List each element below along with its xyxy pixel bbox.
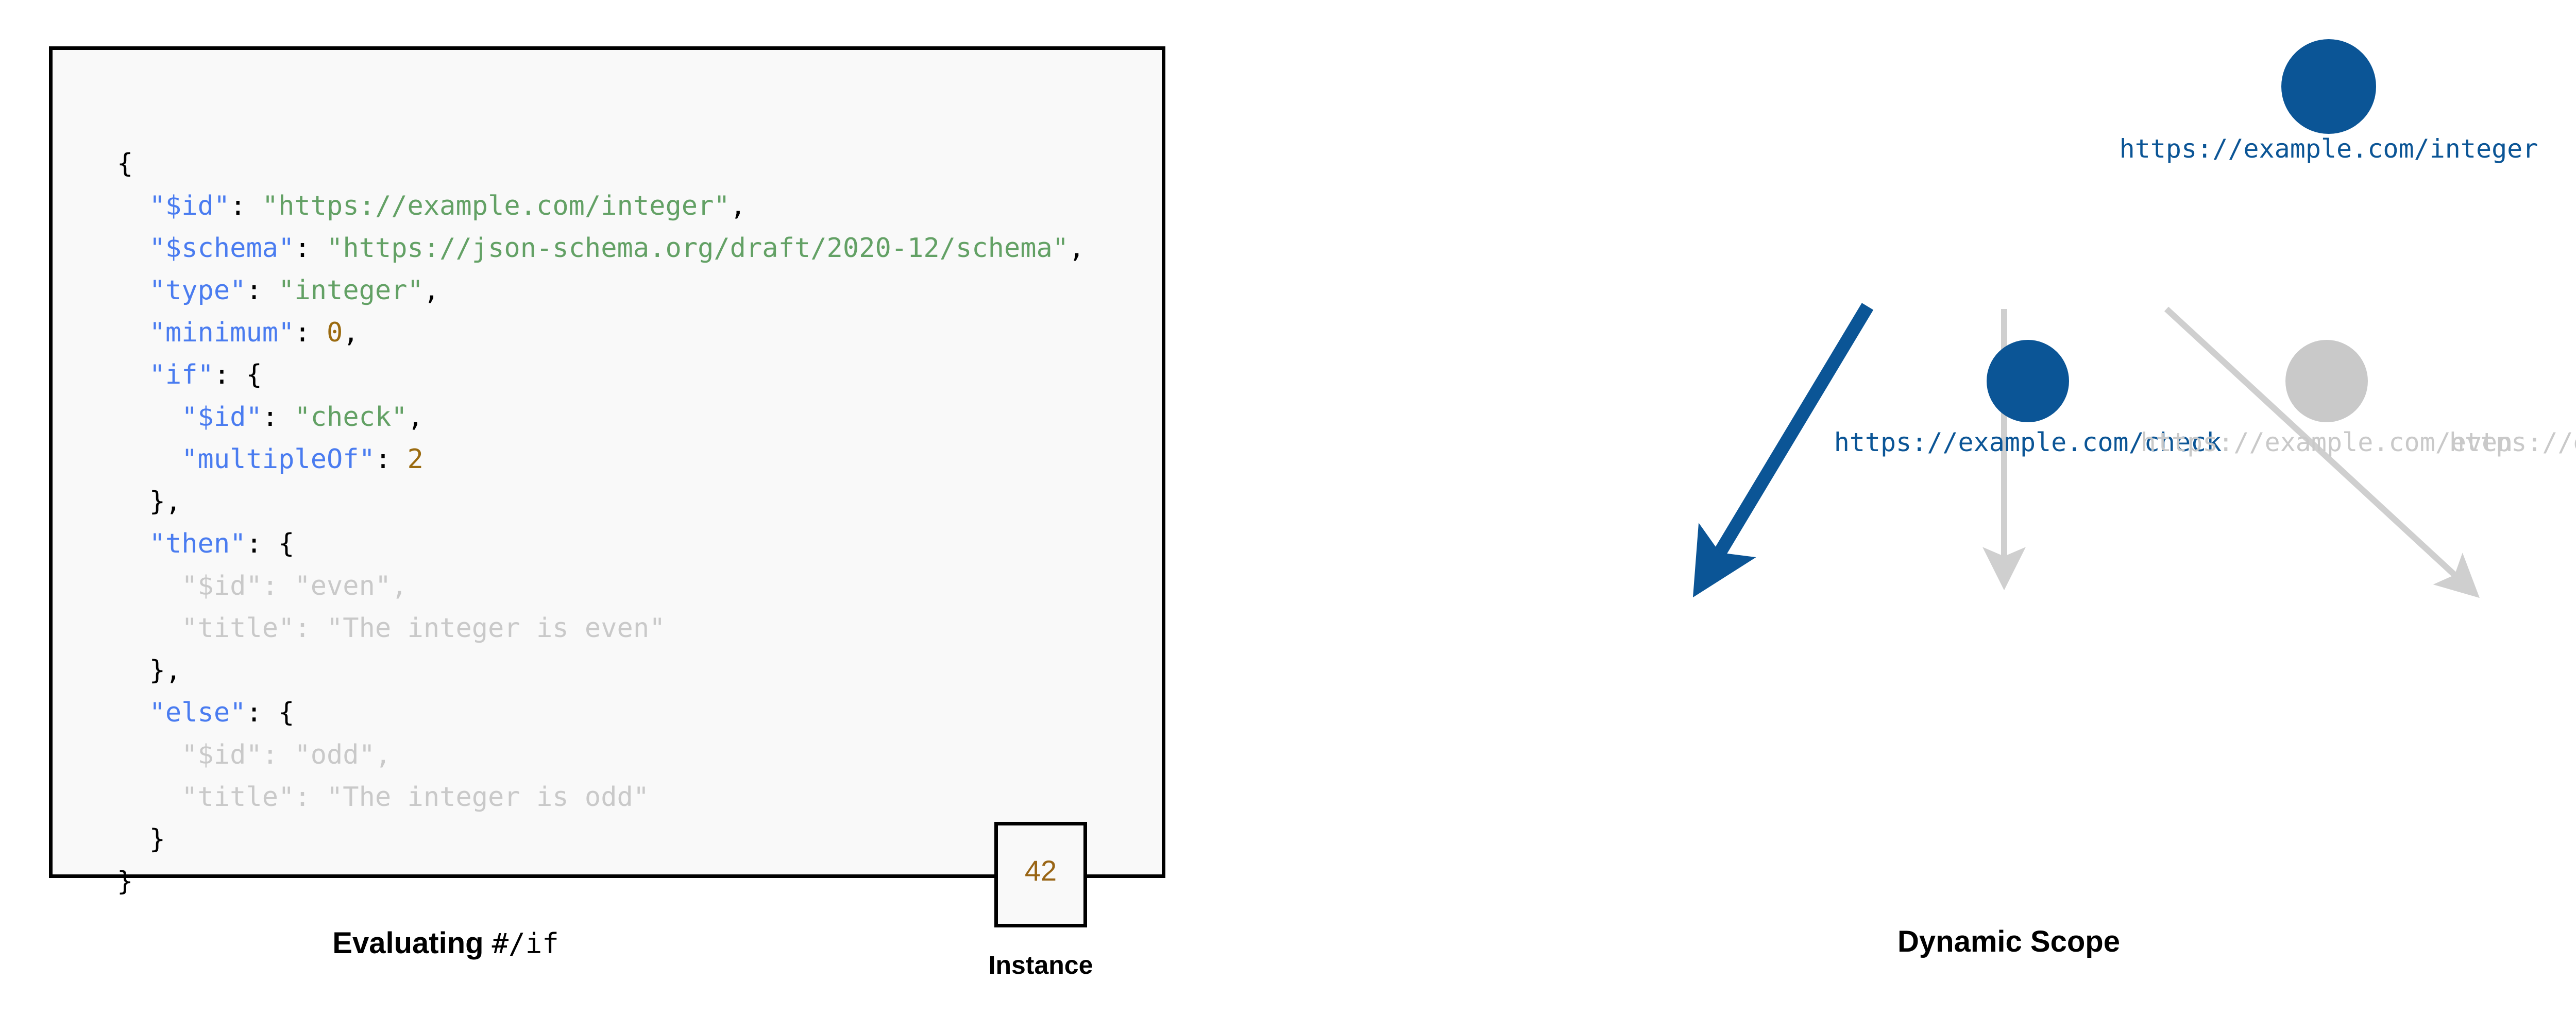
code-token: : [246, 528, 278, 559]
nodes-layer [1987, 39, 2576, 422]
code-line: "if": { [117, 354, 1084, 396]
code-token: "check" [294, 402, 407, 433]
code-line: { [117, 143, 1084, 185]
code-token: "integer" [278, 275, 423, 306]
graph-node-check[interactable] [1987, 340, 2069, 422]
code-token: "minimum" [149, 317, 295, 348]
code-line: "$id": "odd", [117, 734, 1084, 776]
code-token: "$id": "odd", [181, 739, 391, 770]
code-token: : [214, 359, 246, 390]
instance-box: 42 [994, 822, 1087, 927]
code-token: : [246, 275, 278, 306]
code-line: "$schema": "https://json-schema.org/draf… [117, 227, 1084, 269]
code-token: } [117, 866, 133, 897]
code-token: "title": "The integer is even" [181, 613, 665, 644]
dynamic-scope-panel: https://example.com/integerhttps://examp… [1185, 0, 2576, 1033]
left-panel-caption: Evaluating #/if [49, 926, 842, 960]
code-token: 2 [408, 444, 423, 475]
code-token: "else" [149, 697, 246, 728]
code-line: }, [117, 480, 1084, 523]
left-caption-prefix: Evaluating [332, 926, 492, 960]
code-token: } [149, 824, 165, 855]
code-token: "multipleOf" [181, 444, 375, 475]
graph-node-integer[interactable] [2281, 39, 2376, 134]
code-line: "multipleOf": 2 [117, 438, 1084, 480]
code-line: }, [117, 649, 1084, 692]
code-token: { [278, 697, 294, 728]
code-line: } [117, 818, 1084, 860]
code-line: "type": "integer", [117, 269, 1084, 312]
code-token: "type" [149, 275, 246, 306]
code-line: "title": "The integer is even" [117, 607, 1084, 649]
code-token: "https://json-schema.org/draft/2020-12/s… [327, 233, 1069, 264]
code-token: : [294, 317, 327, 348]
left-caption-pointer: #/if [492, 927, 559, 960]
node-label-odd: https://example.com/odd [2449, 427, 2576, 457]
code-token: "$schema" [149, 233, 295, 264]
code-token: : [230, 191, 262, 221]
code-token: : [294, 233, 327, 264]
code-token: 0 [327, 317, 343, 348]
code-token: "$id": "even", [181, 571, 407, 601]
code-line: "else": { [117, 692, 1084, 734]
code-line: "minimum": 0, [117, 312, 1084, 354]
code-line: "title": "The integer is odd" [117, 776, 1084, 818]
right-panel-caption: Dynamic Scope [1185, 924, 2576, 959]
code-token: }, [149, 486, 182, 517]
schema-code-panel: { "$id": "https://example.com/integer", … [49, 46, 1165, 878]
code-token: , [343, 317, 359, 348]
code-token: : [246, 697, 278, 728]
code-token: "$id" [149, 191, 230, 221]
code-token: "if" [149, 359, 214, 390]
code-line: } [117, 860, 1084, 903]
code-line: "then": { [117, 523, 1084, 565]
code-token: "then" [149, 528, 246, 559]
code-line: "$id": "even", [117, 565, 1084, 607]
code-token: : [375, 444, 408, 475]
node-label-integer: https://example.com/integer [2120, 134, 2538, 164]
code-token: { [246, 359, 262, 390]
code-token: { [117, 148, 133, 179]
code-token: : [262, 402, 295, 433]
code-line: "$id": "https://example.com/integer", [117, 185, 1084, 227]
instance-caption: Instance [907, 950, 1175, 980]
code-line: "$id": "check", [117, 396, 1084, 438]
code-token: , [408, 402, 423, 433]
code-token: , [423, 275, 439, 306]
code-token: "https://example.com/integer" [262, 191, 730, 221]
code-token: "title": "The integer is odd" [181, 782, 649, 813]
code-token: , [1069, 233, 1084, 264]
graph-node-even[interactable] [2285, 340, 2368, 422]
instance-value: 42 [1025, 856, 1057, 885]
schema-code-listing: { "$id": "https://example.com/integer", … [117, 143, 1084, 903]
code-token: { [278, 528, 294, 559]
code-token: , [730, 191, 746, 221]
code-token: }, [149, 655, 182, 686]
code-token: "$id" [181, 402, 262, 433]
